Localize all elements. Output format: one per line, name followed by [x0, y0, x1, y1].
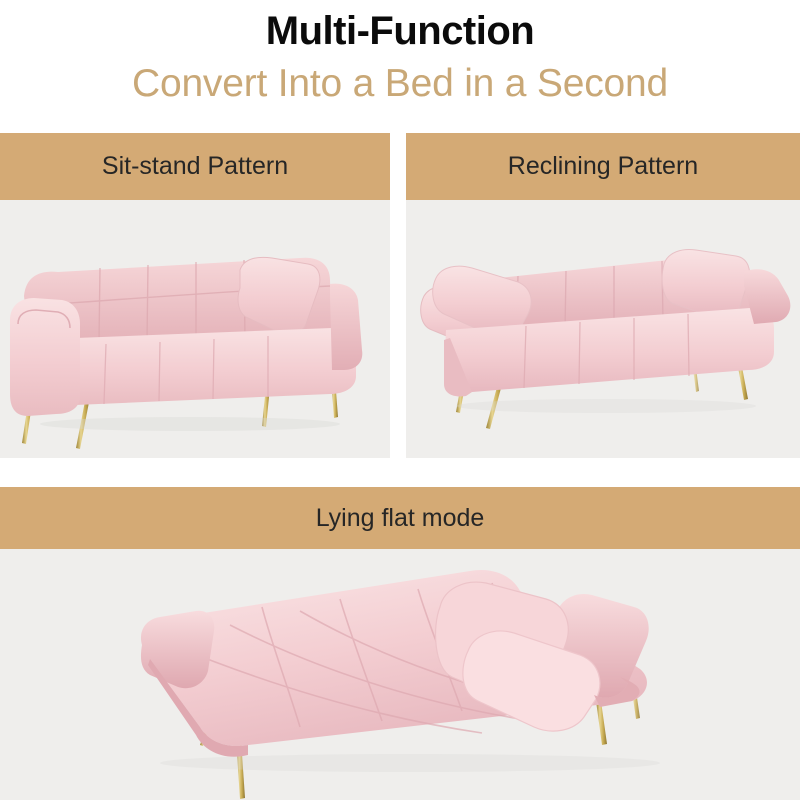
panel-lying-flat-label: Lying flat mode [0, 487, 800, 549]
panel-reclining-photo [406, 200, 800, 458]
panel-sit-stand-photo [0, 200, 390, 458]
sofa-sit-stand-illustration [0, 200, 390, 458]
sofa-lying-flat-illustration [0, 549, 800, 800]
panel-sit-stand-label: Sit-stand Pattern [0, 133, 390, 200]
panel-reclining-label: Reclining Pattern [406, 133, 800, 200]
panel-lying-flat: Lying flat mode [0, 487, 800, 800]
page-title: Multi-Function [0, 6, 800, 56]
armrest-left-flared [141, 611, 214, 688]
infographic-header: Multi-Function Convert Into a Bed in a S… [0, 0, 800, 133]
panel-sit-stand: Sit-stand Pattern [0, 133, 390, 458]
sofa-reclining-illustration [406, 200, 800, 458]
panel-lying-flat-photo [0, 549, 800, 800]
panel-reclining: Reclining Pattern [406, 133, 800, 458]
page-subtitle: Convert Into a Bed in a Second [0, 60, 800, 108]
armrest-right [330, 284, 362, 370]
